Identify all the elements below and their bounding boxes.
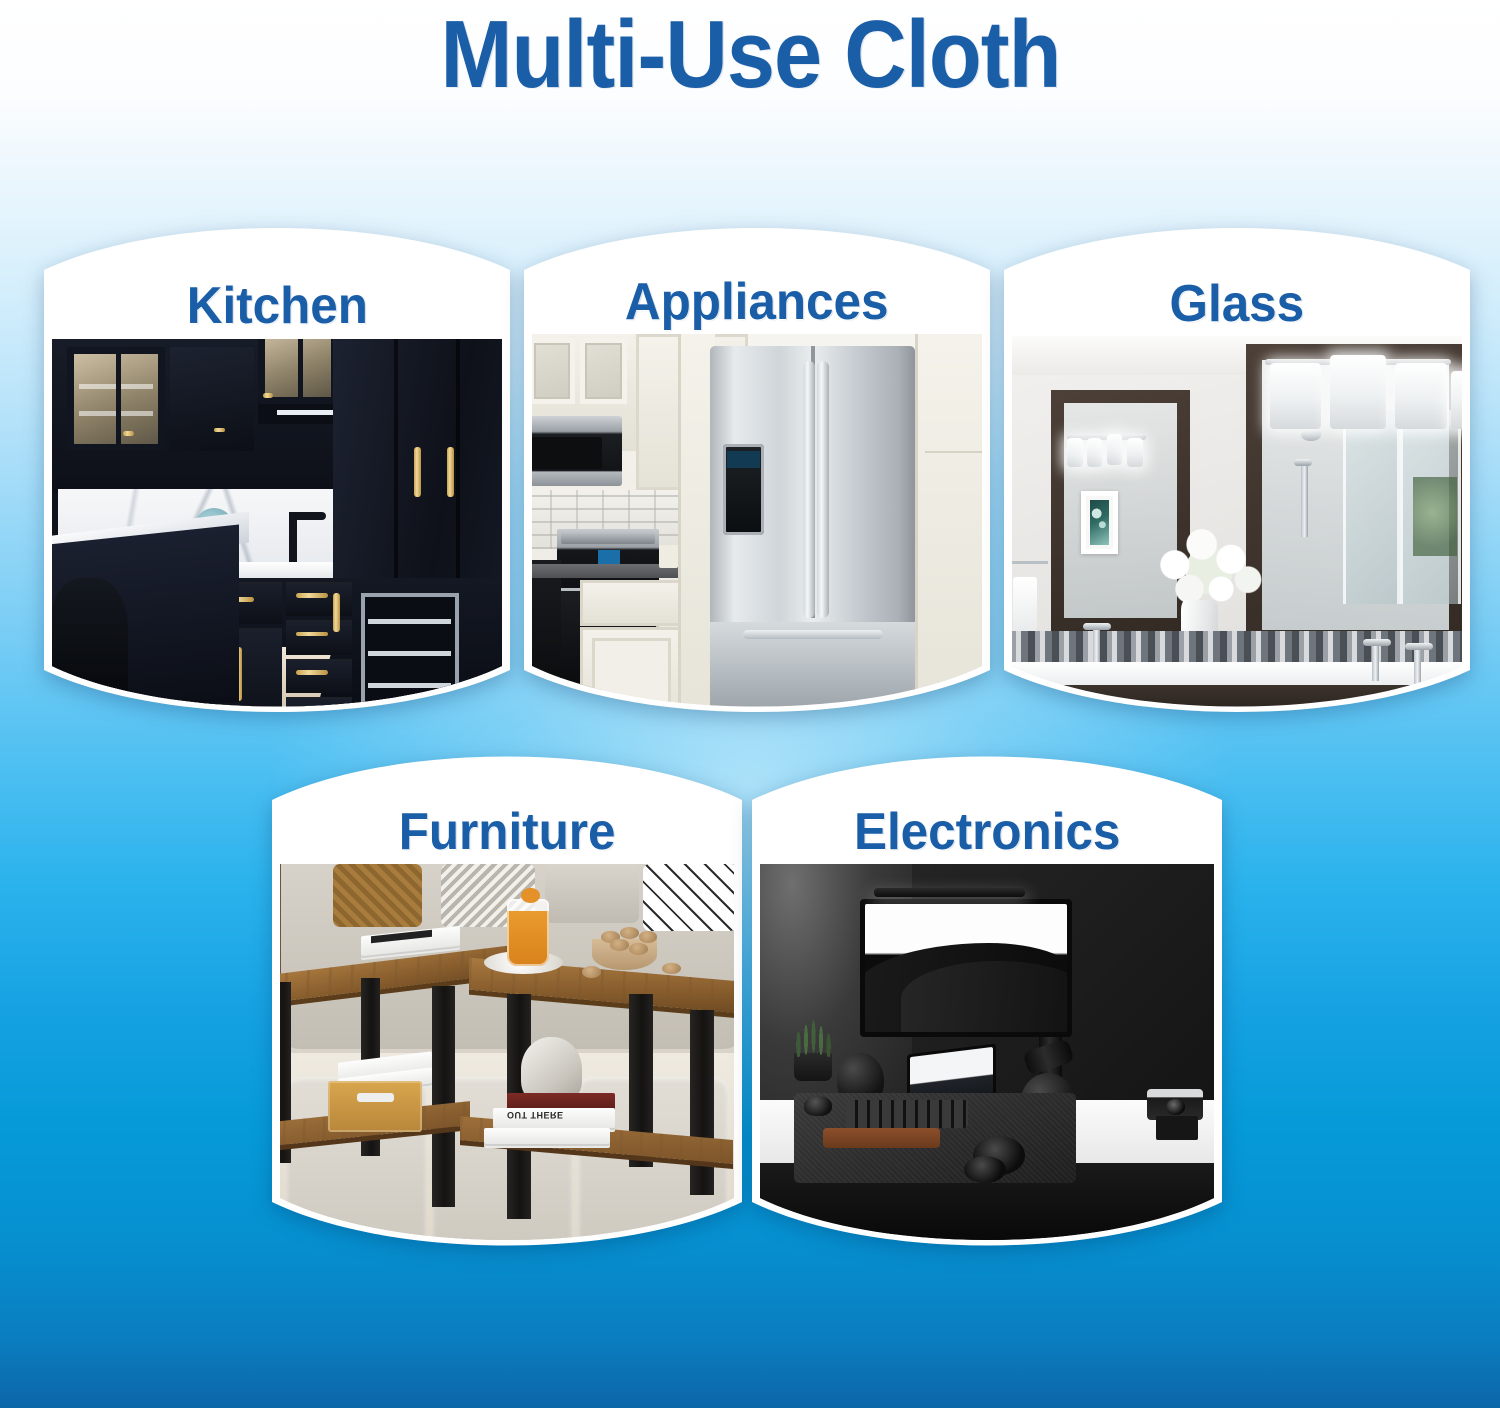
card-furniture[interactable]: OUT THERE Furniture (272, 742, 742, 1258)
kitchen-photo (44, 339, 510, 724)
glass-photo (1004, 336, 1470, 724)
card-furniture-shape: OUT THERE (272, 742, 742, 1258)
header: Multi-Use Cloth (0, 0, 1500, 110)
electronics-photo (752, 864, 1222, 1258)
card-electronics[interactable]: Electronics (752, 742, 1222, 1258)
card-appliances[interactable]: Appliances (524, 214, 990, 724)
page-title: Multi-Use Cloth (440, 7, 1060, 103)
card-appliances-shape (524, 214, 990, 724)
furniture-photo: OUT THERE (272, 864, 742, 1258)
card-electronics-shape (752, 742, 1222, 1258)
appliances-photo (524, 334, 990, 724)
card-glass-shape (1004, 214, 1470, 724)
card-glass[interactable]: Glass (1004, 214, 1470, 724)
furniture-book-title: OUT THERE (507, 1112, 564, 1120)
card-kitchen[interactable]: Kitchen (44, 214, 510, 724)
card-kitchen-shape (44, 214, 510, 724)
